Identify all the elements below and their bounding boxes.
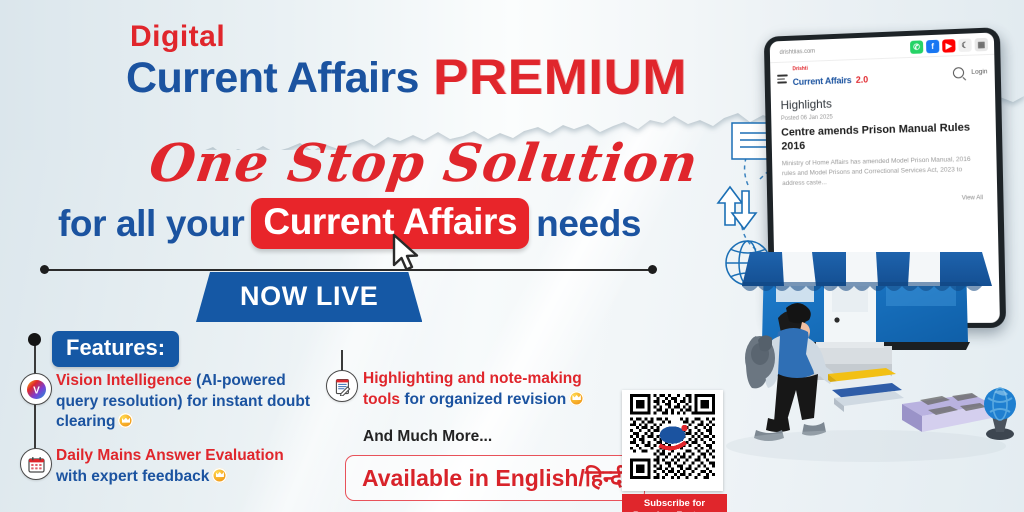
youtube-icon[interactable]: ▶ bbox=[942, 39, 955, 53]
divider-line bbox=[44, 269, 652, 271]
notes-icon bbox=[326, 370, 358, 402]
feature-2-rest: with expert feedback bbox=[56, 468, 209, 485]
now-live-ribbon: NOW LIVE bbox=[196, 272, 422, 322]
login-link[interactable]: Login bbox=[971, 68, 987, 76]
features-badge: Features: bbox=[52, 331, 179, 367]
highlights-heading: Highlights bbox=[780, 92, 985, 112]
features-rail-dot bbox=[28, 333, 41, 346]
crown-badge-icon bbox=[118, 413, 133, 428]
app-logo[interactable]: Drishti Current Affairs 2.0 bbox=[792, 65, 868, 90]
promotional-banner: Digital Current Affairs PREMIUM One Stop… bbox=[0, 0, 1024, 512]
brand-digital-label: Digital bbox=[130, 22, 672, 52]
headline-suffix: needs bbox=[536, 203, 641, 245]
feature-1-lead: Vision Intelligence bbox=[56, 372, 192, 389]
brand-header: Digital Current Affairs PREMIUM bbox=[126, 22, 672, 100]
feature-3-rest: for organized revision bbox=[400, 391, 566, 408]
whatsapp-icon[interactable]: ✆ bbox=[910, 40, 923, 54]
grid-icon[interactable]: ▦ bbox=[975, 38, 989, 52]
globe-ornament bbox=[984, 388, 1016, 440]
article-description: Ministry of Home Affairs has amended Mod… bbox=[782, 154, 987, 189]
nav-right-group: Login bbox=[953, 66, 988, 78]
qr-code[interactable] bbox=[622, 390, 723, 491]
svg-text:V: V bbox=[33, 385, 40, 396]
article-title[interactable]: Centre amends Prison Manual Rules 2016 bbox=[781, 120, 986, 154]
mouse-cursor-icon bbox=[390, 232, 424, 274]
calendar-icon bbox=[20, 448, 52, 480]
view-all-link[interactable]: View All bbox=[783, 195, 988, 205]
brand-current-affairs-label: Current Affairs bbox=[126, 57, 419, 100]
brand-premium-label: PREMIUM bbox=[433, 54, 687, 100]
language-availability-box: Available in English/हिन्दी bbox=[345, 455, 645, 501]
vision-intelligence-icon: V bbox=[20, 373, 52, 405]
divider-dot-left bbox=[40, 265, 49, 274]
facebook-icon[interactable]: f bbox=[926, 40, 939, 54]
brand-title-row: Current Affairs PREMIUM bbox=[126, 54, 672, 100]
book-stack bbox=[828, 368, 904, 412]
qr-subscribe-label[interactable]: Subscribe for Premium Features bbox=[622, 494, 727, 512]
transfer-arrows-icon bbox=[718, 187, 756, 229]
features-rail-right bbox=[341, 350, 343, 372]
divider-dot-right bbox=[648, 265, 657, 274]
feature-item-3: Highlighting and note-making tools for o… bbox=[363, 369, 611, 410]
storefront-illustration bbox=[716, 246, 1024, 512]
qr-label-line1: Subscribe for bbox=[624, 498, 725, 510]
article-body: Highlights Posted 06 Jan 2025 Centre ame… bbox=[771, 87, 998, 205]
money-stack bbox=[902, 393, 992, 432]
search-icon[interactable] bbox=[953, 67, 964, 79]
hamburger-menu-icon[interactable] bbox=[777, 75, 788, 84]
feature-item-2: Daily Mains Answer Evaluation with exper… bbox=[56, 446, 318, 487]
crown-badge-icon bbox=[569, 391, 584, 406]
browser-url-hint: drishtiias.com bbox=[776, 48, 816, 55]
app-logo-main: Current Affairs bbox=[793, 75, 852, 87]
headline-prefix: for all your bbox=[58, 203, 244, 245]
and-much-more-text: And Much More... bbox=[363, 428, 492, 446]
headline-subline: for all your Current Affairs needs bbox=[58, 198, 641, 249]
app-logo-version: 2.0 bbox=[856, 75, 869, 85]
crown-badge-icon bbox=[212, 468, 227, 483]
feature-item-1: Vision Intelligence (AI-powered query re… bbox=[56, 371, 316, 433]
awning bbox=[742, 252, 992, 291]
headline-script: One Stop Solution bbox=[146, 133, 703, 194]
qr-code-image bbox=[630, 394, 715, 479]
dark-mode-icon[interactable]: ☾ bbox=[958, 38, 971, 52]
qr-subscribe-block[interactable]: Subscribe for Premium Features bbox=[622, 390, 727, 512]
feature-2-lead: Daily Mains Answer Evaluation bbox=[56, 447, 284, 464]
app-logo-sup: Drishti bbox=[792, 65, 868, 73]
